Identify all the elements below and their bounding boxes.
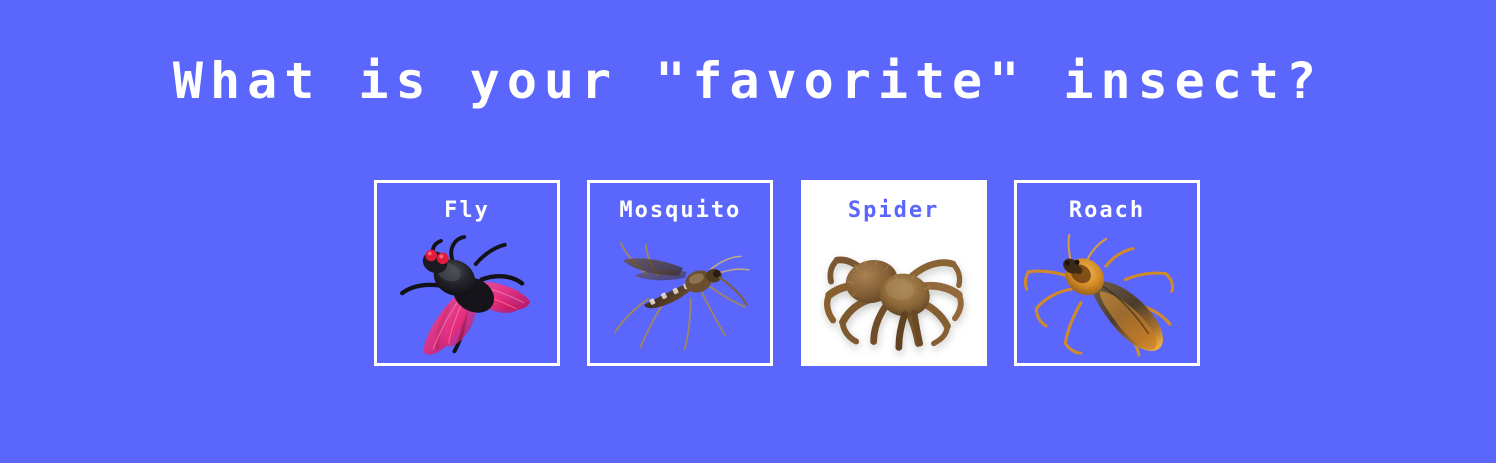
option-label-fly: Fly xyxy=(377,199,557,223)
fly-illustration-icon xyxy=(377,229,557,365)
option-card-spider[interactable]: Spider xyxy=(801,180,987,366)
option-card-mosquito[interactable]: Mosquito xyxy=(587,180,773,366)
option-card-fly[interactable]: Fly xyxy=(374,180,560,366)
option-label-mosquito: Mosquito xyxy=(590,199,770,223)
option-label-spider: Spider xyxy=(804,199,984,223)
page-title: What is your "favorite" insect? xyxy=(0,52,1496,110)
mosquito-illustration-icon xyxy=(590,229,770,365)
option-list: Fly xyxy=(374,180,1200,366)
poll-screen: What is your "favorite" insect? Fly xyxy=(0,0,1496,463)
roach-illustration-icon xyxy=(1017,229,1197,365)
option-card-roach[interactable]: Roach xyxy=(1014,180,1200,366)
spider-illustration-icon xyxy=(804,229,984,365)
option-label-roach: Roach xyxy=(1017,199,1197,223)
